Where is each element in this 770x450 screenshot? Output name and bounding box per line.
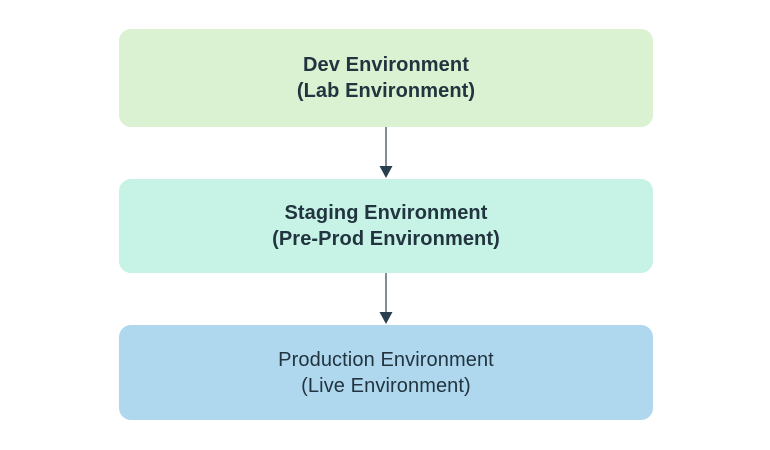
node-production-environment[interactable]: Production Environment (Live Environment… xyxy=(119,325,653,420)
node-dev-environment-title: Dev Environment xyxy=(303,52,469,78)
node-dev-environment-subtitle: (Lab Environment) xyxy=(297,78,475,104)
node-dev-environment[interactable]: Dev Environment (Lab Environment) xyxy=(119,29,653,127)
connector-dev-to-staging xyxy=(366,127,406,179)
node-production-environment-subtitle: (Live Environment) xyxy=(301,373,471,399)
diagram-canvas: Dev Environment (Lab Environment) Stagin… xyxy=(0,0,770,450)
arrow-down-icon xyxy=(366,273,406,325)
node-staging-environment-title: Staging Environment xyxy=(284,200,487,226)
connector-staging-to-production xyxy=(366,273,406,325)
arrow-down-icon xyxy=(366,127,406,179)
node-staging-environment[interactable]: Staging Environment (Pre-Prod Environmen… xyxy=(119,179,653,273)
node-production-environment-title: Production Environment xyxy=(278,347,494,373)
node-staging-environment-subtitle: (Pre-Prod Environment) xyxy=(272,226,500,252)
